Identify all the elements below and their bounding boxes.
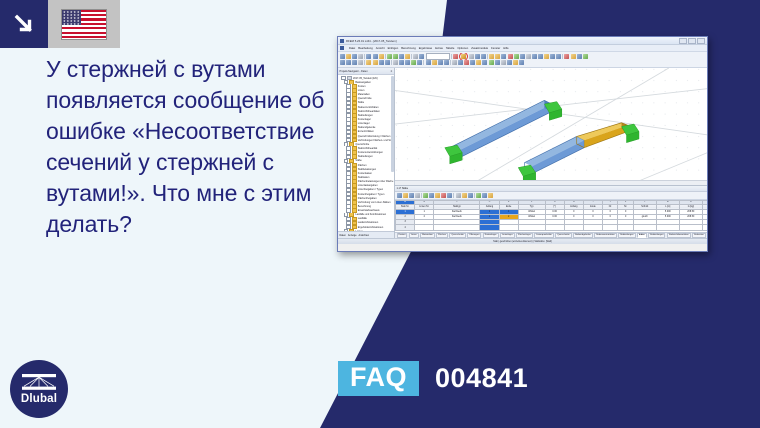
cut-icon[interactable] [423,193,428,198]
close-button[interactable] [697,38,705,44]
navigator-item-label: Knotenfreigaben / Typen [358,193,385,196]
snap-icon[interactable] [475,54,480,59]
print-icon[interactable] [415,193,420,198]
report-icon[interactable] [519,60,524,65]
check-icon[interactable] [514,54,519,59]
navigator-item-label: Verbindungen Flächen- und Stäbe [358,139,394,142]
table-cell[interactable]: 4 [396,225,415,230]
array-icon[interactable] [417,60,422,65]
toolbar-row-2[interactable] [340,60,705,67]
navigator-tree-item[interactable]: Lasten [339,229,394,231]
navigator-item-label: Knotenunterstützungen [358,151,383,154]
sort-icon[interactable] [462,193,467,198]
toolbar-separator [411,54,412,59]
model-canvas[interactable] [395,68,708,185]
navigator-item-label: Stäbe [358,101,364,104]
navigator-item-label: Linien [358,89,365,92]
table-tab[interactable]: Stabnichtlinearitäten [667,233,691,238]
tree-expander-icon[interactable] [344,229,349,231]
navigator-item-label: Knotenlasten [358,172,372,175]
table-cell[interactable] [518,225,545,230]
find-icon[interactable] [468,193,473,198]
toolbar-separator [562,54,563,59]
navigator-item-label: Stabteilungen [358,114,373,117]
render-icon[interactable] [413,54,418,59]
load-icon[interactable] [508,54,513,59]
calculate-icon [461,54,466,59]
group-icon[interactable] [452,60,457,65]
toolbar-separator [451,54,452,59]
filter-icon[interactable] [456,193,461,198]
faq-badge: FAQ [338,361,419,396]
menu-item-berechnung[interactable]: Berechnung [401,47,416,50]
ungroup-icon[interactable] [458,60,463,65]
zoom-icon[interactable] [405,54,410,59]
table-cell[interactable] [564,225,583,230]
delete-icon[interactable] [564,54,569,59]
table-cell[interactable] [545,225,564,230]
navigator-item-label: Stabteilungen [358,155,373,158]
menu-item-tabelle[interactable]: Tabelle [446,47,455,50]
contour-icon[interactable] [507,60,512,65]
data-table-panel: 1.17 Stäbe ABCDEFGHIJKLMN [395,185,708,238]
visibility-icon[interactable] [444,60,449,65]
table-cell[interactable] [633,225,656,230]
maximize-button[interactable] [688,38,696,44]
us-flag-icon: ★★★★★★★★★★★★★★★★★★★★★★★★★★★★ [61,9,107,40]
table-tab[interactable]: Index [637,233,647,238]
table-toolbar[interactable] [395,192,708,200]
dlubal-bridge-icon [21,373,57,391]
navigator-item-label: Querschnittsrüstung / Flächen [358,135,391,138]
menu-item-extras[interactable]: Extras [435,47,443,50]
table-tab-strip[interactable]: KnotenLinienMaterialienFlächenQuerschnit… [395,232,708,239]
member-icon[interactable] [489,54,494,59]
results-icon[interactable] [453,54,458,59]
navigator-tab-daten[interactable]: Daten [340,234,346,237]
calculate-highlight-button[interactable] [459,53,468,60]
line-icon[interactable] [340,60,345,65]
table-tab[interactable]: Exzentrizitätstypen [707,233,708,238]
save-icon[interactable] [352,54,357,59]
navigator-item-label: Stäbe [355,159,361,162]
toolbar-separator [385,54,386,59]
window-titlebar: RFEM 5.26.01 xx64 - [2017-05_Tandem] [338,37,707,45]
solid-icon[interactable] [385,60,390,65]
navigator-header: Projekt-Navigator - Daten ✕ [338,68,394,75]
table-tab[interactable]: Stabexzentrizitäten [594,233,617,238]
menu-doc-icon [340,46,344,50]
menu-item-datei[interactable]: Datei [349,47,355,50]
menu-item-einfuegen[interactable]: Einfügen [388,47,399,50]
move-icon[interactable] [405,60,410,65]
folder-icon [349,229,354,231]
copy-icon[interactable] [429,193,434,198]
navigator-tabs[interactable]: Daten Anzeige Ansichten [338,231,394,238]
polyline-icon[interactable] [346,60,351,65]
faq-number: 004841 [435,365,528,392]
navigator-item-label: Stabbelastungen [358,168,376,171]
dimension-icon[interactable] [426,60,431,65]
toolbars[interactable] [338,52,707,68]
table-tab[interactable]: Linien [409,233,419,238]
menu-item-hilfe[interactable]: Hilfe [503,47,508,50]
table-tab[interactable]: Linienquerkräfte [534,233,554,238]
info-icon[interactable] [544,54,549,59]
project-navigator[interactable]: Projekt-Navigator - Daten ✕ 2017-05_Tand… [338,68,395,238]
select-icon[interactable] [419,54,424,59]
menu-item-ergebnisse[interactable]: Ergebnisse [419,47,432,50]
table-tab[interactable]: Linienlager [500,233,515,238]
table-tab[interactable]: Knotenlager [483,233,499,238]
window-title: RFEM 5.26.01 xx64 - [2017-05_Tandem] [346,39,397,43]
rfem-application-window: RFEM 5.26.01 xx64 - [2017-05_Tandem] Dat… [337,36,708,252]
navigator-item-label: Lastfälle und Kombinationen [355,213,386,216]
paste-icon[interactable] [379,54,384,59]
language-arrow-badge[interactable] [0,0,48,48]
navigator-item-label: Linienlastangaben [358,184,378,187]
members-table[interactable]: ABCDEFGHIJKLMNStab Nr.Linien Nr.StabtypA… [395,200,708,231]
material-icon[interactable] [476,60,481,65]
window-controls[interactable] [679,38,705,44]
ortho-icon[interactable] [481,54,486,59]
table-tab[interactable]: Stabteilungen [618,233,635,238]
menu-item-bearbeitung[interactable]: Bearbeitung [358,47,373,50]
support-icon[interactable] [501,54,506,59]
table-tab[interactable]: Öffnungen [467,233,481,238]
plate-icon[interactable] [379,60,384,65]
settings-icon[interactable] [476,193,481,198]
toolbar-separator [487,54,488,59]
table-tab[interactable]: Stabendgelenke [573,233,593,238]
table-cell[interactable] [480,225,499,230]
minimize-button[interactable] [679,38,687,44]
status-bar: Stab | geschnitten (einzelnes Element) |… [338,238,707,244]
section-icon[interactable] [520,54,525,59]
navigator-item-label: Stabnichtlinearität [358,147,377,150]
navigator-item-label: Lasten [355,230,362,231]
faq-slide: ★★★★★★★★★★★★★★★★★★★★★★★★★★★★ У стержней … [0,0,760,428]
navigator-tree[interactable]: 2017-05_Tandem [EN]BasisangabenKnotenLin… [338,75,394,231]
table-tab[interactable]: Stabteilungen [648,233,665,238]
navigator-item-label: Berechnung [358,205,371,208]
workspace: Bauteile ✕ Querschnitte 1 - IPE 300 | DI… [395,68,708,238]
navigator-item-label: Knotenlager [358,118,371,121]
module-icon[interactable] [571,54,576,59]
navigator-tab-ansichten[interactable]: Ansichten [359,234,370,237]
table-tab[interactable]: Stabsätze [692,233,706,238]
beam-icon[interactable] [373,60,378,65]
measure-icon[interactable] [470,60,475,65]
toolbar-separator [453,193,454,198]
table-tab[interactable]: Querschnitte [449,233,465,238]
new-icon[interactable] [340,54,345,59]
table-tab[interactable]: Materialien [420,233,435,238]
redo-icon[interactable] [447,193,452,198]
navigator-item-label: Stabnichtlinearitäten [358,110,380,113]
help-icon[interactable] [488,193,493,198]
undo-icon[interactable] [441,193,446,198]
menu-item-zusatzmodule[interactable]: Zusatzmodule [471,47,488,50]
view-icon[interactable] [526,54,531,59]
rotate-icon[interactable] [399,60,404,65]
table-cell[interactable] [656,225,679,230]
3d-model-viewport[interactable]: Bauteile ✕ Querschnitte 1 - IPE 300 | DI… [395,68,708,185]
toolbar-separator [364,54,365,59]
menu-item-fenster[interactable]: Fenster [491,47,500,50]
text-icon[interactable] [432,60,437,65]
table-row[interactable]: 4 [396,225,709,230]
undo-icon[interactable] [387,54,392,59]
table-cell[interactable] [702,225,708,230]
calc-icon[interactable] [482,193,487,198]
table-cell[interactable] [499,225,518,230]
app-icon [340,39,344,43]
logo-label: Dlubal [21,393,57,405]
open-icon[interactable] [346,54,351,59]
navigator-item-label: Basisangaben [355,81,370,84]
navigator-item-label: Lastfälle [358,217,367,220]
navigator-item-label: Querschnitte [355,143,369,146]
table-cell[interactable] [618,225,633,230]
navigator-item-label: Stabendgelenke [358,126,376,129]
language-flag-badge[interactable]: ★★★★★★★★★★★★★★★★★★★★★★★★★★★★ [48,0,120,48]
arrow-down-right-icon [11,11,37,37]
navigator-item-label: Flächenbelastungen über Fläche [358,180,394,183]
crosssection-icon[interactable] [482,60,487,65]
dlubal-logo: Dlubal [10,360,68,418]
navigator-item-label: Materialien [358,93,370,96]
print-icon[interactable] [358,54,363,59]
table-cell[interactable] [434,225,480,230]
menu-item-ansicht[interactable]: Ansicht [376,47,385,50]
new-icon[interactable] [397,193,402,198]
navigator-item-label: Ergebniskombinationen [358,226,383,229]
copy-icon[interactable] [373,54,378,59]
layer-icon[interactable] [438,60,443,65]
scale-icon[interactable] [411,60,416,65]
navigator-item-label: Linienfreigaben / Typen [358,188,383,191]
viewport-horizontal-scrollbar[interactable] [395,180,708,185]
navigator-item-label: 2017-05_Tandem [EN] [353,77,377,80]
save-icon[interactable] [409,193,414,198]
vertical-scrollbar[interactable] [391,76,394,172]
pan-icon[interactable] [538,54,543,59]
animate-icon[interactable] [513,60,518,65]
table-cell[interactable] [679,225,702,230]
table-cell[interactable] [583,225,602,230]
print-preview-icon[interactable] [550,54,555,59]
surface-icon[interactable] [495,54,500,59]
refresh-icon[interactable] [399,54,404,59]
mesh-icon[interactable] [495,60,500,65]
table-tab[interactable]: Flächenlager [516,233,533,238]
app-body: Projekt-Navigator - Daten ✕ 2017-05_Tand… [338,68,707,238]
table-grid[interactable]: ABCDEFGHIJKLMNStab Nr.Linien Nr.StabtypA… [395,200,708,232]
menu-item-optionen[interactable]: Optionen [457,47,468,50]
page-title: У стержней с вутами появляется сообщение… [46,54,326,240]
table-title: 1.17 Stäbe [397,187,409,190]
isometric-icon[interactable] [532,54,537,59]
toolbar-separator [450,60,451,65]
toolbar-separator [391,60,392,65]
table-cell[interactable] [603,225,618,230]
navigator-title: Projekt-Navigator - Daten [340,70,368,73]
menu-bar[interactable]: Datei Bearbeitung Ansicht Einfügen Berec… [338,45,707,52]
toolbar-separator [423,60,424,65]
toolbar-separator [474,193,475,198]
grid-icon[interactable] [469,54,474,59]
export-icon[interactable] [556,54,561,59]
circle-icon[interactable] [358,60,363,65]
navigator-close-icon[interactable]: ✕ [390,70,392,73]
table-cell[interactable] [415,225,434,230]
clear-icon[interactable] [464,60,469,65]
toolbar-separator [421,193,422,198]
navigator-item-label: Flächenfreigaben [358,197,377,200]
table-tab[interactable]: Querschnitte [555,233,571,238]
arc-icon[interactable] [352,60,357,65]
open-icon[interactable] [403,193,408,198]
navigator-item-label: Flächen [358,164,367,167]
paste-icon[interactable] [435,193,440,198]
redo-icon[interactable] [393,54,398,59]
help-icon[interactable] [583,54,588,59]
navigator-tab-anzeige[interactable]: Anzeige [348,234,357,237]
mirror-icon[interactable] [393,60,398,65]
faq-footer: FAQ 004841 [338,361,528,396]
navigator-item-label: Querschnitte [358,97,372,100]
cut-icon[interactable] [366,54,371,59]
validate-icon[interactable] [489,60,494,65]
loadcase-select[interactable] [426,53,450,60]
navigator-item-label: Lastkombinationen [358,221,378,224]
toolbar-separator [364,60,365,65]
navigator-item-label: Knoten [358,85,366,88]
navigator-item-label: Linienlager [358,122,370,125]
node-icon[interactable] [366,60,371,65]
navigator-item-label: Stabexzentrizitäten [358,106,379,109]
navigator-item-label: Verbindung von Linien-Stäben [358,201,391,204]
deform-icon[interactable] [501,60,506,65]
navigator-item-label: Stablasten [358,176,370,179]
navigator-item-label: Exzentrizitäten [358,130,374,133]
settings-icon[interactable] [577,54,582,59]
navigator-item-label: Ersatzstabnachweis [358,209,380,212]
table-tab[interactable]: Flächen [436,233,448,238]
table-tab[interactable]: Knoten [397,233,408,238]
